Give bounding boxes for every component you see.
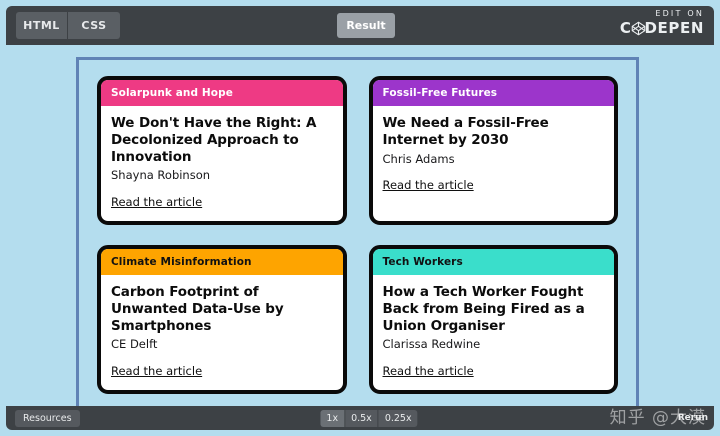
resources-button[interactable]: Resources — [15, 410, 80, 427]
card-title: We Don't Have the Right: A Decolonized A… — [111, 115, 333, 165]
rerun-button[interactable]: Rerun — [678, 413, 708, 423]
read-the-article-link[interactable]: Read the article — [383, 178, 474, 192]
article-card[interactable]: Climate Misinformation Carbon Footprint … — [97, 245, 347, 394]
read-the-article-link[interactable]: Read the article — [111, 364, 202, 378]
card-body: How a Tech Worker Fought Back from Being… — [373, 275, 615, 390]
edit-on-codepen-link[interactable]: EDIT ON C DEPEN — [620, 10, 704, 36]
article-card[interactable]: Tech Workers How a Tech Worker Fought Ba… — [369, 245, 619, 394]
zoom-0-25x-button[interactable]: 0.25x — [379, 410, 418, 427]
card-body: Carbon Footprint of Unwanted Data-Use by… — [101, 275, 343, 390]
read-the-article-link[interactable]: Read the article — [111, 195, 202, 209]
zoom-0-5x-button[interactable]: 0.5x — [345, 410, 379, 427]
tab-html[interactable]: HTML — [16, 12, 68, 39]
card-title: Carbon Footprint of Unwanted Data-Use by… — [111, 284, 333, 334]
card-author: CE Delft — [111, 337, 333, 352]
zoom-1x-button[interactable]: 1x — [320, 410, 345, 427]
codepen-wordmark: C DEPEN — [620, 21, 704, 36]
card-category-tag: Climate Misinformation — [101, 249, 343, 275]
rendered-page-frame: Solarpunk and Hope We Don't Have the Rig… — [76, 57, 639, 417]
card-author: Chris Adams — [383, 152, 605, 167]
codepen-preview-window: HTML CSS Result EDIT ON C DEPEN — [0, 0, 720, 436]
card-author: Clarissa Redwine — [383, 337, 605, 352]
codepen-wordmark-suffix: DEPEN — [645, 21, 705, 36]
card-title: We Need a Fossil-Free Internet by 2030 — [383, 115, 605, 148]
preview-viewport[interactable]: Solarpunk and Hope We Don't Have the Rig… — [6, 45, 714, 417]
article-card[interactable]: Solarpunk and Hope We Don't Have the Rig… — [97, 76, 347, 225]
card-author: Shayna Robinson — [111, 168, 333, 183]
card-body: We Need a Fossil-Free Internet by 2030 C… — [373, 106, 615, 204]
pane-tab-group: HTML CSS — [6, 6, 120, 45]
tab-result[interactable]: Result — [337, 13, 395, 38]
read-the-article-link[interactable]: Read the article — [383, 364, 474, 378]
zoom-level-group: 1x 0.5x 0.25x — [320, 410, 417, 427]
codepen-logo-icon — [631, 21, 646, 36]
card-category-tag: Tech Workers — [373, 249, 615, 275]
tab-css[interactable]: CSS — [68, 12, 120, 39]
card-category-tag: Solarpunk and Hope — [101, 80, 343, 106]
article-card[interactable]: Fossil-Free Futures We Need a Fossil-Fre… — [369, 76, 619, 225]
editor-bottom-bar: Resources 1x 0.5x 0.25x Rerun — [6, 406, 714, 430]
card-body: We Don't Have the Right: A Decolonized A… — [101, 106, 343, 221]
card-category-tag: Fossil-Free Futures — [373, 80, 615, 106]
card-title: How a Tech Worker Fought Back from Being… — [383, 284, 605, 334]
article-card-grid: Solarpunk and Hope We Don't Have the Rig… — [97, 76, 618, 417]
editor-top-bar: HTML CSS Result EDIT ON C DEPEN — [6, 6, 714, 45]
edit-on-label: EDIT ON — [620, 10, 704, 18]
